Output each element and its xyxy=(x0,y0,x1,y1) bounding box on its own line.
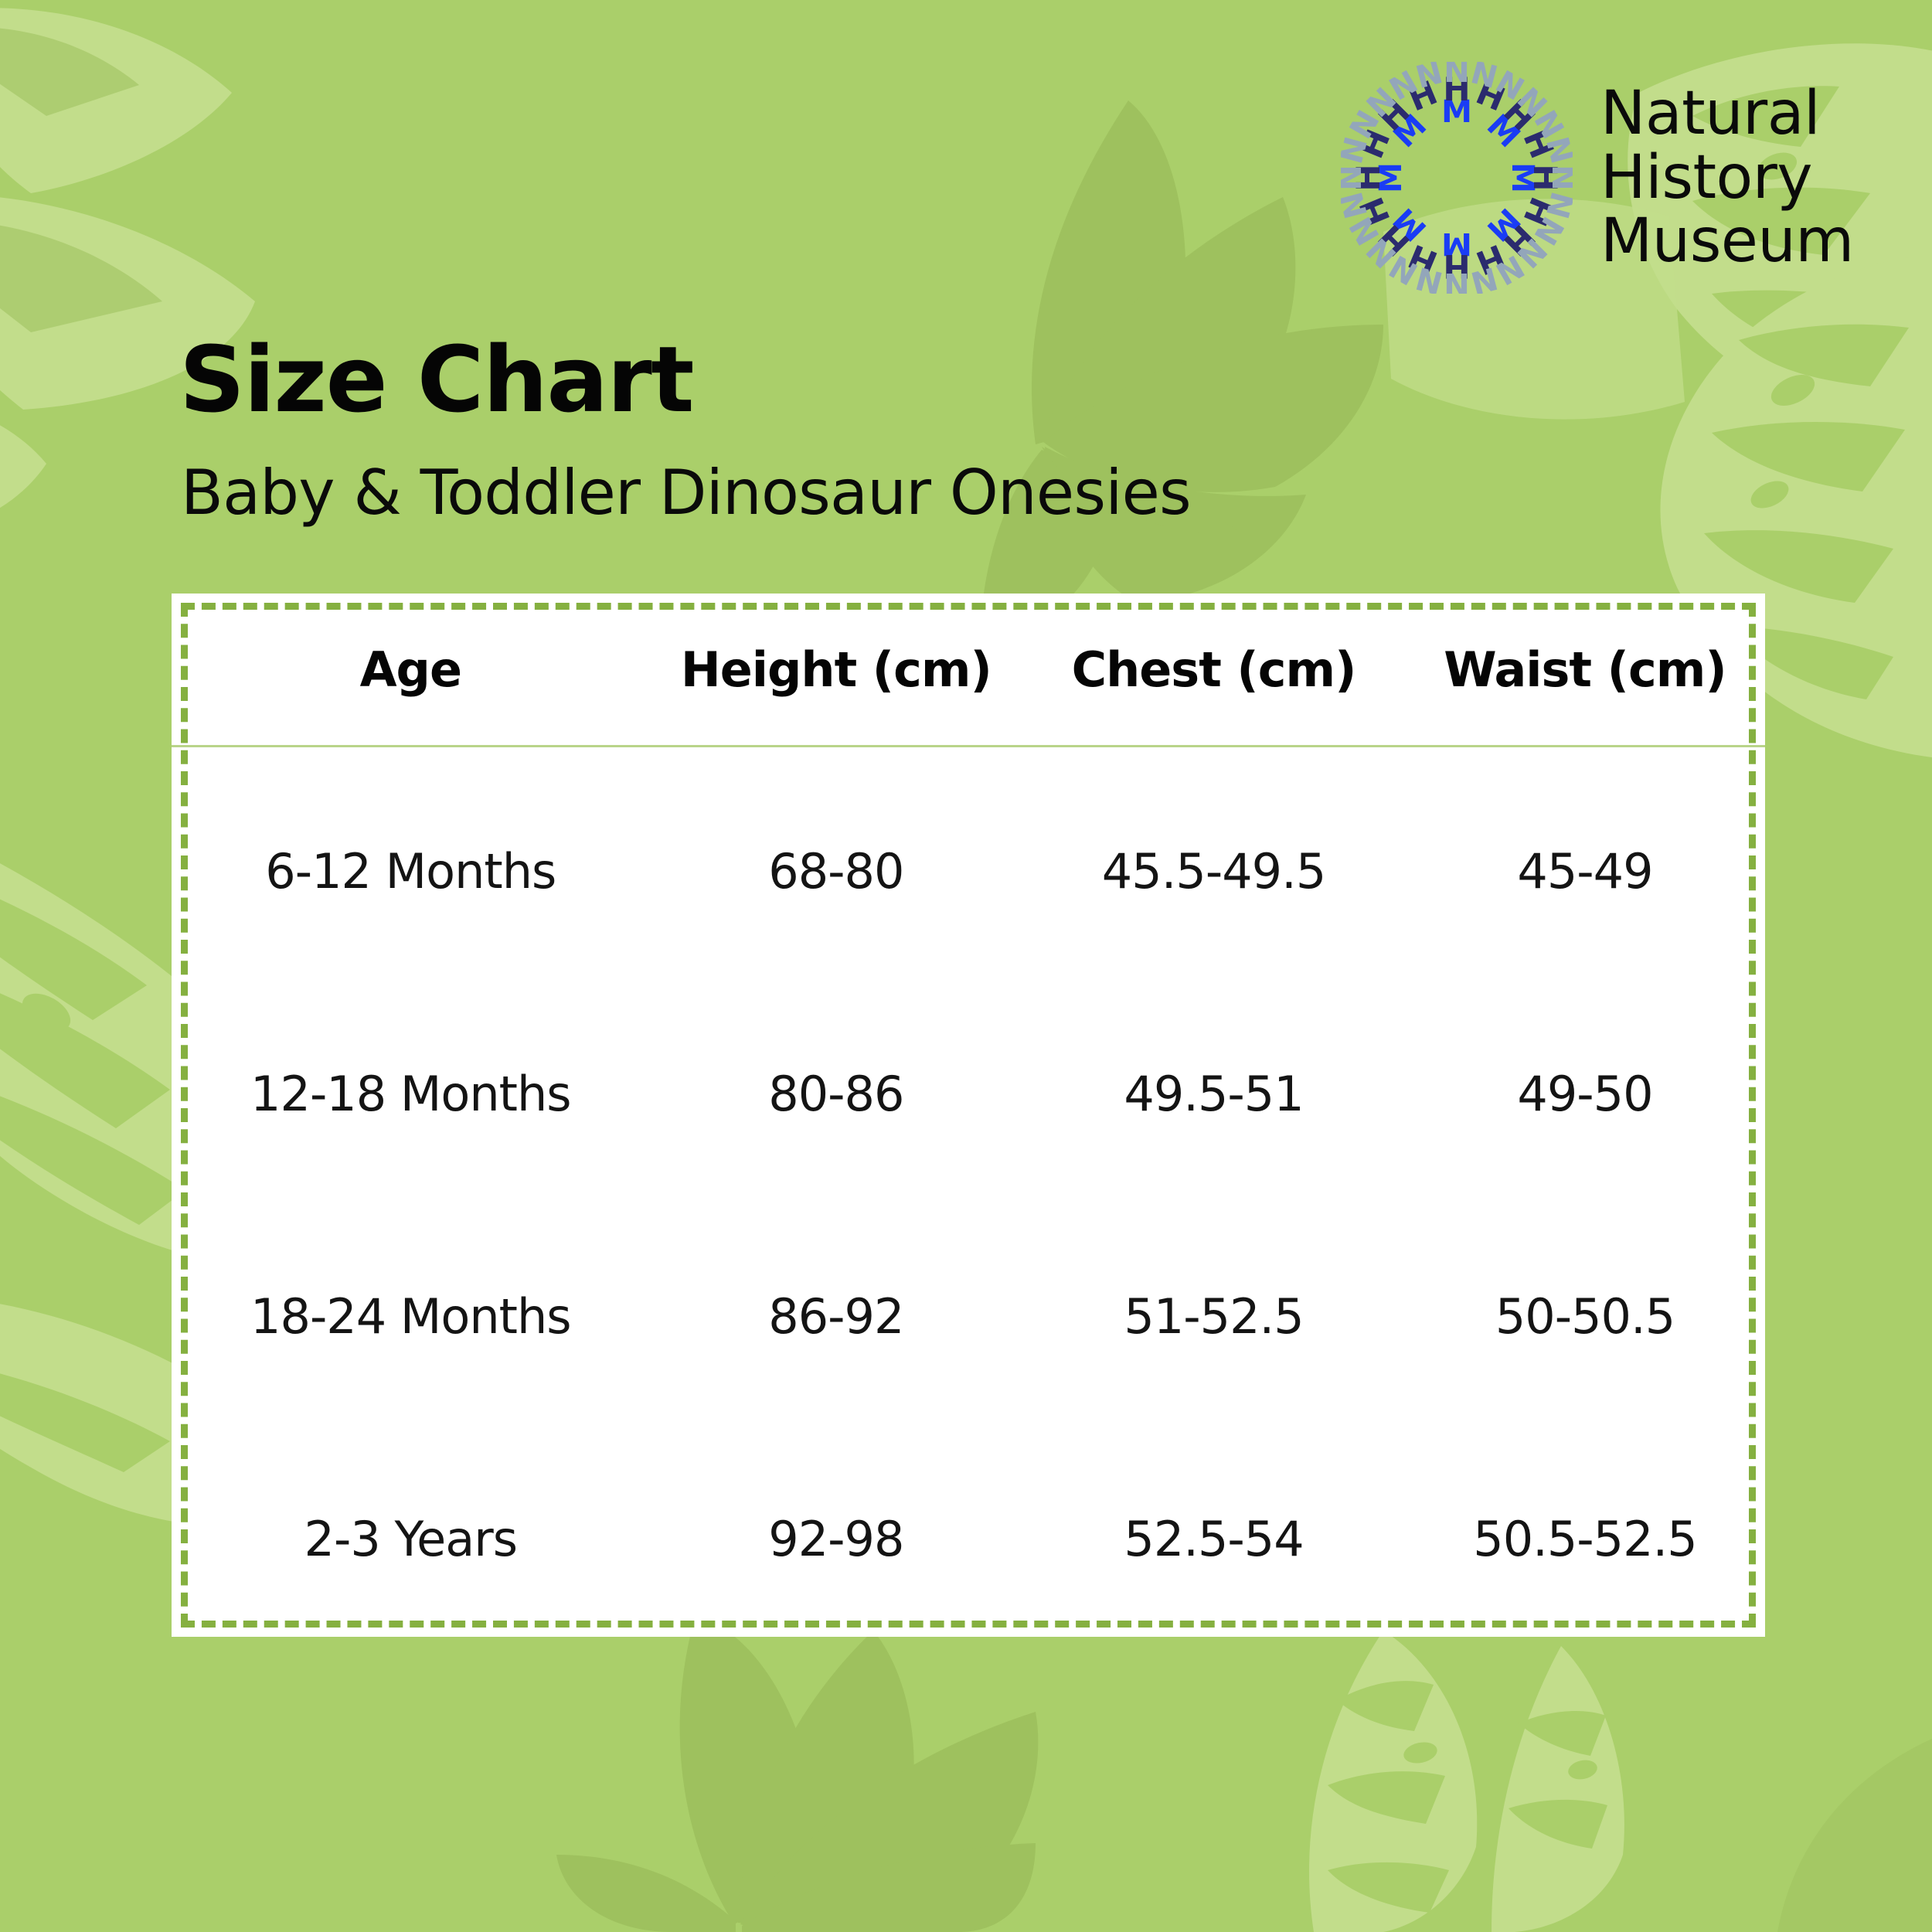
column-header-height: Height (cm) xyxy=(650,594,1023,747)
table-row: 12-18 Months 80-86 49.5-51 49-50 xyxy=(172,982,1765,1205)
cell-chest: 52.5-54 xyxy=(1022,1427,1405,1650)
table-row: 18-24 Months 86-92 51-52.5 50-50.5 xyxy=(172,1205,1765,1427)
cell-chest: 49.5-51 xyxy=(1022,982,1405,1205)
page-subtitle: Baby & Toddler Dinosaur Onesies xyxy=(181,462,1191,524)
size-chart-card: Age Height (cm) Chest (cm) Waist (cm) 6-… xyxy=(172,594,1765,1637)
leaf-bottom-centre xyxy=(1309,1631,1624,1932)
leaf-top-fan xyxy=(980,100,1383,641)
leaf-bottom-fan xyxy=(556,1615,1038,1932)
svg-text:N: N xyxy=(1341,165,1369,190)
nhm-starburst-logo: M M M M M M M M H H H H H H H H H H H xyxy=(1341,62,1573,294)
cell-age: 6-12 Months xyxy=(172,747,650,983)
size-chart-table: Age Height (cm) Chest (cm) Waist (cm) 6-… xyxy=(172,594,1765,1650)
size-chart-poster: M M M M M M M M H H H H H H H H H H H xyxy=(0,0,1932,1932)
table-header-row: Age Height (cm) Chest (cm) Waist (cm) xyxy=(172,594,1765,747)
svg-text:N: N xyxy=(1545,165,1573,190)
column-header-age: Age xyxy=(172,594,650,747)
leaf-bottom-right xyxy=(1777,1739,1932,1932)
cell-height: 68-80 xyxy=(650,747,1023,983)
cell-age: 12-18 Months xyxy=(172,982,650,1205)
cell-waist: 50-50.5 xyxy=(1405,1205,1765,1427)
cell-height: 80-86 xyxy=(650,982,1023,1205)
cell-chest: 51-52.5 xyxy=(1022,1205,1405,1427)
cell-height: 86-92 xyxy=(650,1205,1023,1427)
cell-waist: 49-50 xyxy=(1405,982,1765,1205)
cell-height: 92-98 xyxy=(650,1427,1023,1650)
logo-wordmark-line-1: Natural xyxy=(1600,82,1854,146)
column-header-waist: Waist (cm) xyxy=(1405,594,1765,747)
nhm-logo[interactable]: M M M M M M M M H H H H H H H H H H H xyxy=(1341,62,1854,294)
cell-waist: 50.5-52.5 xyxy=(1405,1427,1765,1650)
logo-wordmark-line-2: History xyxy=(1600,146,1854,210)
table-row: 6-12 Months 68-80 45.5-49.5 45-49 xyxy=(172,747,1765,983)
cell-waist: 45-49 xyxy=(1405,747,1765,983)
column-header-chest: Chest (cm) xyxy=(1022,594,1405,747)
logo-wordmark-line-3: Museum xyxy=(1600,209,1854,274)
svg-text:N: N xyxy=(1444,62,1469,90)
page-title: Size Chart xyxy=(179,334,693,425)
cell-age: 18-24 Months xyxy=(172,1205,650,1427)
table-row: 2-3 Years 92-98 52.5-54 50.5-52.5 xyxy=(172,1427,1765,1650)
svg-text:N: N xyxy=(1444,266,1469,294)
logo-wordmark: Natural History Museum xyxy=(1600,82,1854,274)
cell-age: 2-3 Years xyxy=(172,1427,650,1650)
cell-chest: 45.5-49.5 xyxy=(1022,747,1405,983)
